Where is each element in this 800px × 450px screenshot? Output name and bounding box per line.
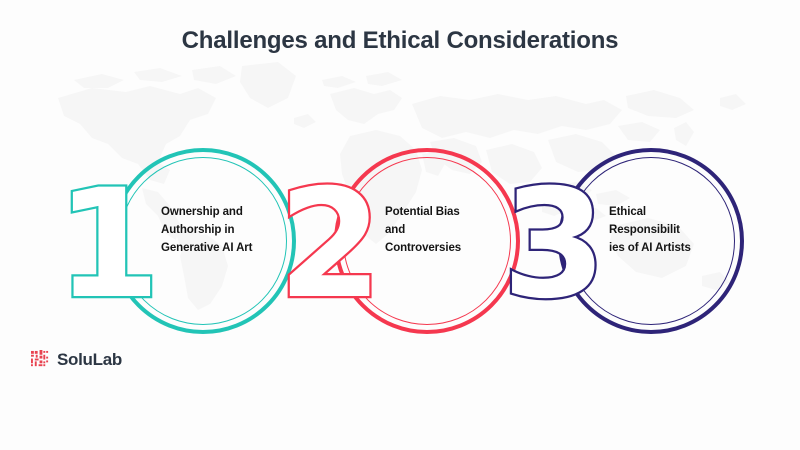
step-number-2-glyph: 2 <box>278 158 382 332</box>
brand-logo[interactable]: SoluLab <box>31 350 122 369</box>
step-label-1-line-3: Generative AI Art <box>161 240 289 258</box>
step-label-3-line-2: Responsibilit <box>609 222 737 240</box>
step-number-1-glyph: 1 <box>56 158 160 332</box>
step-label-2-line-1: Potential Bias <box>385 204 513 222</box>
step-label-1-line-1: Ownership and <box>161 204 289 222</box>
step-label-3-line-3: ies of AI Artists <box>609 240 737 258</box>
step-label-1: Ownership and Authorship in Generative A… <box>161 204 289 257</box>
solulab-pixel-logo-icon <box>31 350 50 369</box>
step-label-3-line-1: Ethical <box>609 204 737 222</box>
step-number-1: 1 <box>48 174 168 304</box>
step-label-2-line-2: and <box>385 222 513 240</box>
step-label-1-line-2: Authorship in <box>161 222 289 240</box>
step-number-2: 2 <box>272 174 392 304</box>
page-title: Challenges and Ethical Considerations <box>0 27 800 55</box>
step-label-3: Ethical Responsibilit ies of AI Artists <box>609 204 737 257</box>
step-label-2-line-3: Controversies <box>385 240 513 258</box>
step-label-2: Potential Bias and Controversies <box>385 204 513 257</box>
step-item-3[interactable]: 3 Ethical Responsibilit ies of AI Artist… <box>496 148 764 334</box>
brand-name: SoluLab <box>57 351 122 368</box>
step-number-3-glyph: 3 <box>502 158 606 332</box>
infographic-canvas: Challenges and Ethical Considerations 1 … <box>0 0 800 450</box>
step-number-3: 3 <box>496 174 616 304</box>
